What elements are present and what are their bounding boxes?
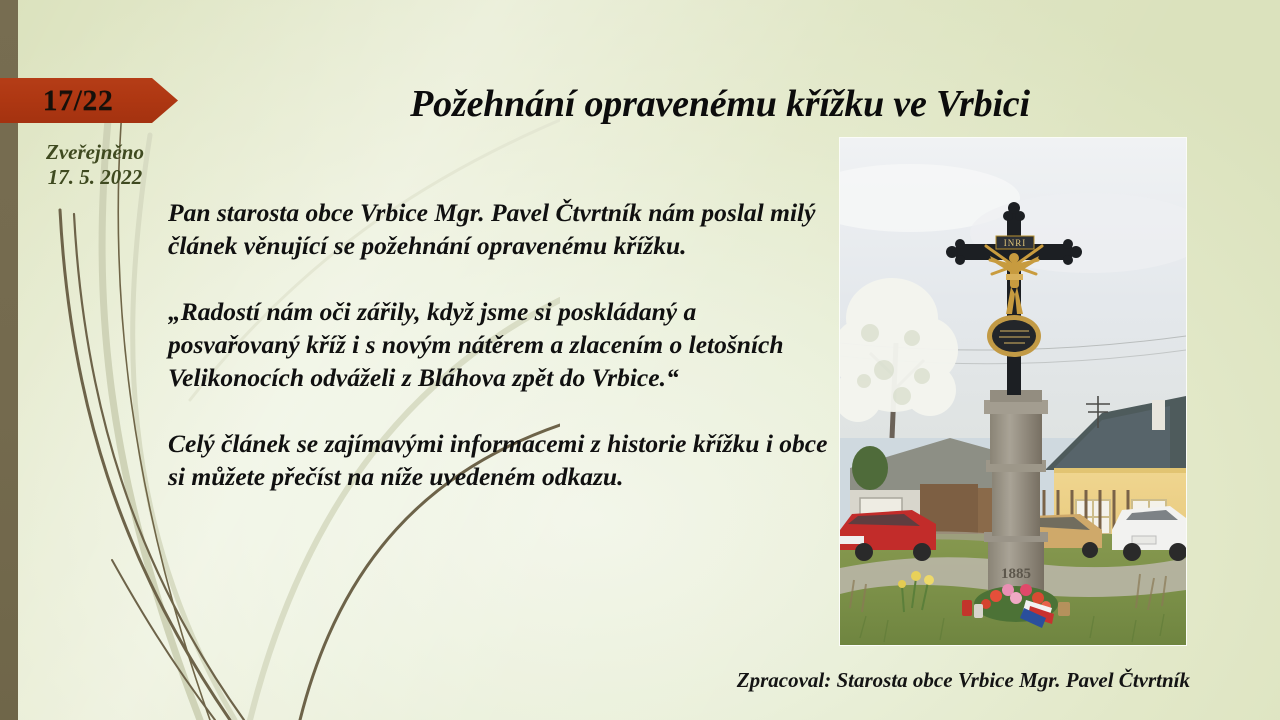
published-label: Zveřejněno [10,140,180,165]
cross-photograph: 1885 [840,138,1186,645]
body-paragraph-2: „Radostí nám oči zářily, když jsme si po… [168,295,828,394]
pedestal-year: 1885 [1001,566,1031,582]
slide-number-label: 17/22 [0,78,156,123]
body-paragraph-3: Celý článek se zajímavými informacemi z … [168,427,828,493]
published-date: 17. 5. 2022 [10,165,180,190]
body-paragraph-1: Pan starosta obce Vrbice Mgr. Pavel Čtvr… [168,196,828,262]
credit-line: Zpracoval: Starosta obce Vrbice Mgr. Pav… [560,668,1190,693]
published-date-block: Zveřejněno 17. 5. 2022 [10,140,180,190]
presentation-slide: 17/22 Zveřejněno 17. 5. 2022 Požehnání o… [0,0,1280,720]
inri-plate-text: INRI [1004,238,1027,248]
body-text: Pan starosta obce Vrbice Mgr. Pavel Čtvr… [168,196,828,493]
slide-title: Požehnání opravenému křížku ve Vrbici [180,82,1260,126]
